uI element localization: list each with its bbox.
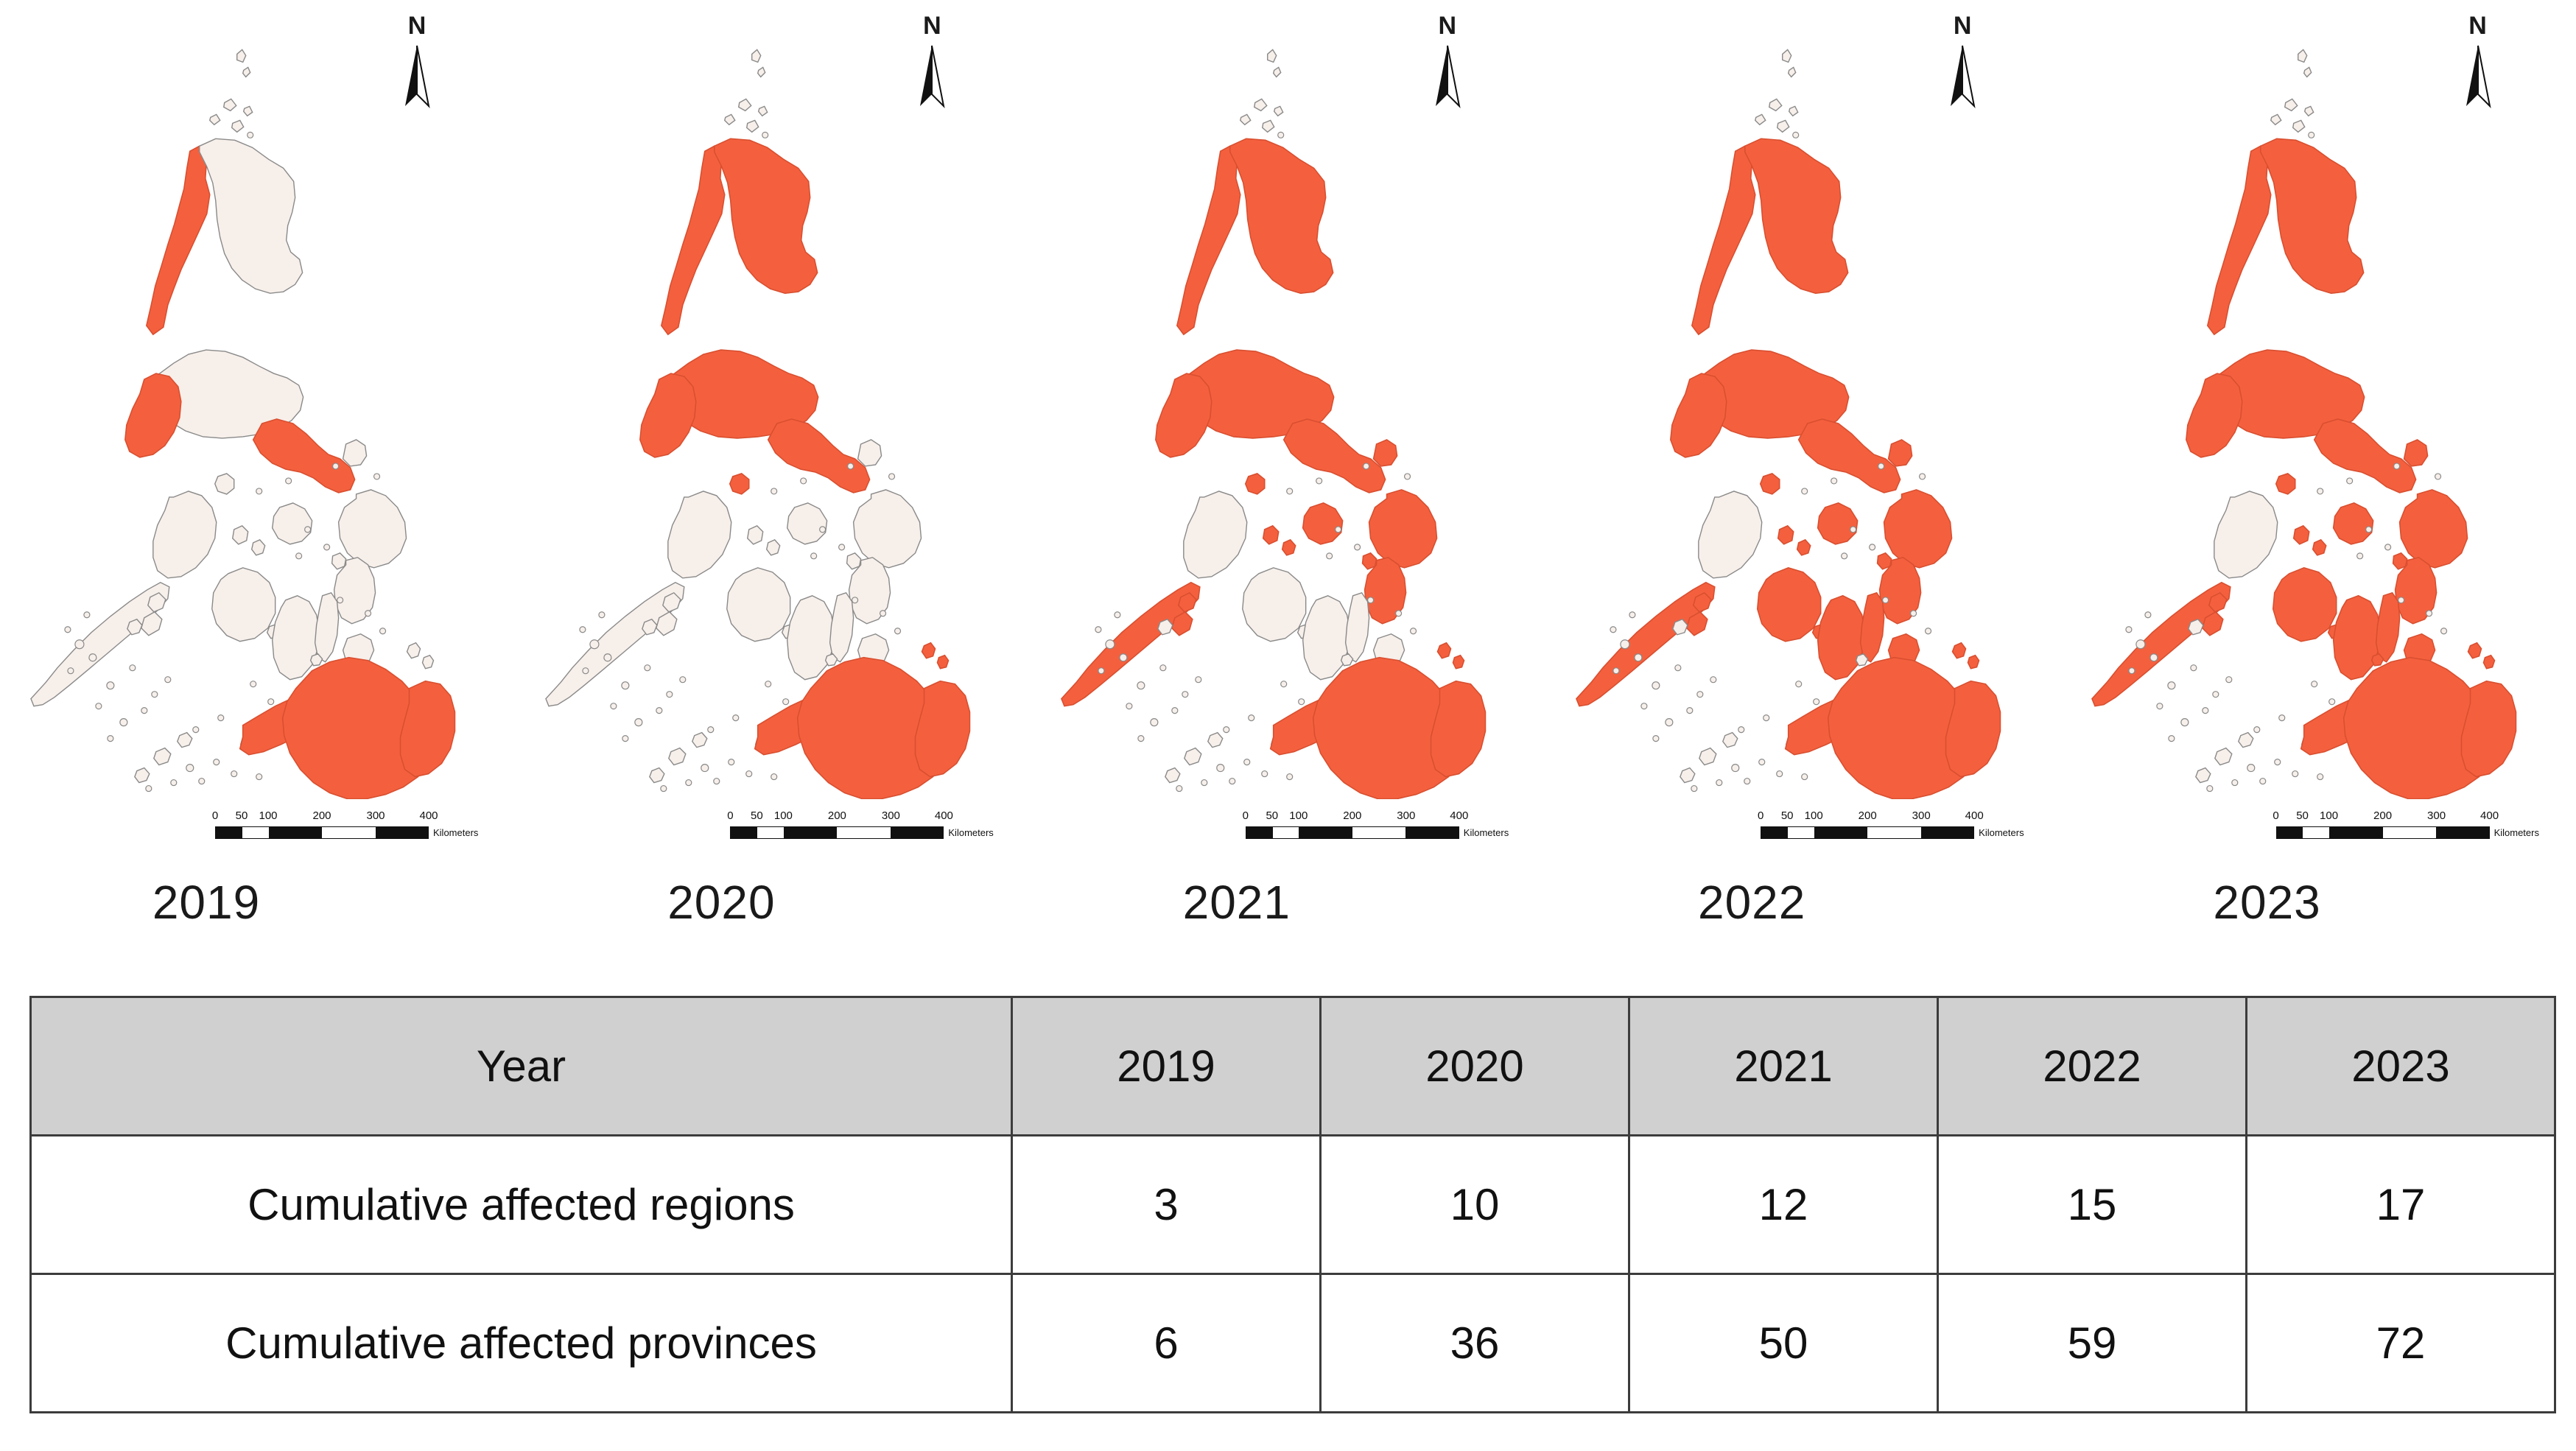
row-label-provinces: Cumulative affected provinces [31, 1274, 1012, 1413]
map-islet [1716, 780, 1722, 786]
map-islet [2278, 715, 2284, 721]
map-region-calayan [2292, 120, 2304, 132]
scalebar-tick: 300 [2427, 810, 2446, 822]
scalebar-tick: 50 [1266, 810, 1278, 822]
map-region-sulu-c [2238, 733, 2253, 748]
map-islet [96, 703, 102, 709]
map-islet [2317, 774, 2323, 780]
map-region-romblon-b [767, 540, 780, 555]
map-region-cebu [1345, 593, 1369, 662]
map-islet [2259, 779, 2265, 784]
map-region-babuyan-c [1755, 114, 1766, 124]
map-region-luzon-north-east [1745, 138, 1848, 293]
map-islet [2125, 627, 2131, 633]
scalebar-tick: 300 [366, 810, 385, 822]
map-islet [2156, 703, 2162, 709]
map-region-luzon-bicol [768, 419, 870, 493]
map-islet [1732, 765, 1739, 772]
map-region-ilocos-strip [1177, 146, 1240, 334]
map-islet [714, 779, 720, 784]
map-region-romblon-a [233, 526, 248, 544]
map-region-panay [1758, 568, 1821, 642]
map-islet [2206, 786, 2212, 792]
map-islet [1744, 779, 1750, 784]
map-region-negros [787, 596, 835, 680]
map-region-batanes-b [2303, 67, 2311, 77]
map-region-negros [273, 596, 320, 680]
map-islet [171, 780, 177, 786]
map-year-label: 2020 [515, 875, 927, 930]
scalebar-tick: 50 [2296, 810, 2309, 822]
map-panel-2023: N 050100200300400 Kilometers 2023 [2061, 0, 2576, 980]
map-islet [108, 736, 113, 742]
map-region-sulu-a [1185, 748, 1201, 765]
map-islet [1870, 544, 1875, 550]
map-region-ilocos-strip [147, 146, 210, 334]
map-region-batanes-b [1273, 67, 1280, 77]
scalebar-tick: 400 [419, 810, 438, 822]
map-islet [1652, 682, 1660, 689]
map-islet [1738, 727, 1744, 733]
scalebar-unit-label: Kilometers [1979, 828, 2024, 838]
map-islet [2308, 132, 2314, 138]
map-islet [337, 597, 343, 603]
map-region-masbate [1818, 503, 1858, 544]
map-panel-2020: N 050100200300400 Kilometers 2020 [515, 0, 1030, 980]
scalebar-graphic [2276, 826, 2490, 839]
map-islet [2135, 640, 2144, 649]
map-region-siargao [423, 656, 434, 669]
map-region-cebu [2376, 593, 2399, 662]
map-islet [1137, 682, 1145, 689]
table-header-year-2023: 2023 [2247, 997, 2555, 1136]
map-islet [686, 780, 692, 786]
map-islet [2356, 553, 2362, 559]
scalebar-ticks: 050100200300400 [2276, 810, 2519, 826]
map-region-babuyan-a [224, 99, 236, 110]
map-islet [599, 612, 605, 618]
map-islet [771, 488, 777, 494]
map-islet [1160, 665, 1166, 671]
map-islet [583, 668, 589, 674]
map-region-babuyan-a [2284, 99, 2297, 110]
map-islet [811, 553, 817, 559]
map-region-batanes-a [1268, 49, 1277, 62]
map-islet [84, 612, 90, 618]
statistics-table: Year 2019 2020 2021 2022 2023 Cumulative… [29, 996, 2556, 1413]
map-region-biliran [2393, 553, 2407, 569]
table-header-row: Year 2019 2020 2021 2022 2023 [31, 997, 2555, 1136]
map-year-label: 2022 [1545, 875, 1958, 930]
map-region-ilocos-strip [2207, 146, 2270, 334]
map-region-masbate [787, 503, 827, 544]
map-region-mindoro [668, 491, 731, 578]
map-year-label: 2023 [2061, 875, 2474, 930]
map-islet [746, 771, 752, 777]
cell-regions-2020: 10 [1321, 1136, 1629, 1274]
map-islet [801, 478, 807, 484]
map-islet [186, 765, 194, 772]
map-region-babuyan-b [1274, 106, 1282, 116]
map-region-batanes-b [1789, 67, 1796, 77]
map-region-luzon-bicol [1799, 419, 1901, 493]
map-region-sulu-b [1680, 768, 1695, 783]
map-islet [268, 699, 274, 705]
map-islet [1176, 786, 1182, 792]
map-islet [1911, 611, 1917, 616]
map-islet [820, 527, 826, 533]
scalebar-ticks: 050100200300400 [1761, 810, 2004, 826]
map-islet [2274, 759, 2280, 765]
map-region-negros [2333, 596, 2380, 680]
map-region-calayan [1263, 120, 1274, 132]
map-region-babuyan-c [1240, 114, 1251, 124]
map-islet [1326, 553, 1332, 559]
map-region-cebu [830, 593, 854, 662]
map-islet [1244, 759, 1250, 765]
map-islet [2180, 719, 2188, 726]
scalebar-tick: 300 [1397, 810, 1415, 822]
map-islet [218, 715, 224, 721]
map-region-marinduque [730, 474, 749, 494]
map-region-sulu-b [135, 768, 150, 783]
map-islet [729, 759, 734, 765]
table-header-label: Year [31, 997, 1012, 1136]
map-islet [1691, 786, 1697, 792]
map-region-luzon-zambales [640, 373, 696, 457]
map-region-mindoro [1699, 491, 1762, 578]
map-region-biliran [332, 553, 346, 569]
map-series-strip: N 050100200300400 Kilometers 2019 N 0501… [0, 0, 2576, 980]
map-region-cebu [315, 593, 339, 662]
map-region-marinduque [2275, 474, 2295, 494]
map-islet [2365, 527, 2371, 533]
map-panel-2021: N 050100200300400 Kilometers 2021 [1031, 0, 1545, 980]
map-islet [590, 640, 599, 649]
map-islet [611, 703, 617, 709]
table-header-year-2022: 2022 [1938, 997, 2247, 1136]
map-region-sulu-a [1699, 748, 1716, 765]
map-islet [248, 132, 253, 138]
map-region-batanes-a [752, 49, 761, 62]
map-islet [193, 727, 199, 733]
philippines-map [1545, 41, 2060, 799]
map-islet [1286, 774, 1292, 780]
map-islet [1249, 715, 1254, 721]
map-islet [1878, 463, 1884, 469]
map-islet [2247, 765, 2254, 772]
map-islet [765, 681, 771, 687]
map-region-batanes-b [758, 67, 765, 77]
map-region-palawan [546, 583, 684, 706]
map-islet [1106, 640, 1115, 649]
map-islet [1182, 692, 1188, 698]
map-islet [635, 719, 642, 726]
map-islet [1316, 478, 1322, 484]
scalebar-tick: 0 [1243, 810, 1249, 822]
scalebar-tick: 100 [774, 810, 793, 822]
table-header-year-2019: 2019 [1012, 997, 1321, 1136]
cell-provinces-2019: 6 [1012, 1274, 1321, 1413]
map-islet [2384, 544, 2390, 550]
scalebar-graphic [1246, 826, 1459, 839]
map-panel-2022: N 050100200300400 Kilometers 2022 [1545, 0, 2060, 980]
map-islet [839, 544, 845, 550]
map-islet [889, 474, 895, 479]
map-islet [380, 628, 386, 634]
map-islet [2346, 478, 2352, 484]
map-region-calayan [1777, 120, 1789, 132]
map-islet [1763, 715, 1769, 721]
map-region-babuyan-a [739, 99, 751, 110]
map-region-romblon-a [2293, 526, 2309, 544]
map-region-luzon-zambales [125, 373, 181, 457]
map-islet [2398, 597, 2404, 603]
map-region-luzon-north-east [715, 138, 818, 293]
map-islet [1224, 727, 1229, 733]
map-region-sulu-c [692, 733, 707, 748]
scalebar-tick: 100 [2320, 810, 2338, 822]
map-islet [1802, 774, 1808, 780]
map-islet [1286, 488, 1292, 494]
map-islet [1298, 699, 1304, 705]
map-islet [667, 692, 673, 698]
map-region-luzon-north-east [2260, 138, 2363, 293]
map-islet [1172, 708, 1178, 714]
map-region-siargao [938, 656, 949, 669]
map-region-samar [1369, 490, 1436, 568]
map-region-luzon-bicol [253, 419, 355, 493]
map-islet [120, 719, 127, 726]
map-region-romblon-a [748, 526, 763, 544]
scalebar-tick: 0 [1758, 810, 1763, 822]
scale-bar: 050100200300400 Kilometers [215, 810, 458, 849]
map-islet [1335, 527, 1341, 533]
map-region-catanduanes [1889, 440, 1912, 466]
map-islet [107, 682, 114, 689]
map-islet [231, 771, 237, 777]
cell-provinces-2020: 36 [1321, 1274, 1629, 1413]
map-region-luzon-north-east [200, 138, 303, 293]
map-islet [1710, 677, 1716, 683]
map-region-babuyan-b [1789, 106, 1798, 116]
map-region-dinagat [407, 643, 421, 658]
map-islet [1229, 779, 1235, 784]
map-region-batanes-a [2298, 49, 2306, 62]
scalebar-tick: 50 [751, 810, 763, 822]
map-islet [1621, 640, 1629, 649]
map-islet [656, 708, 662, 714]
scalebar-tick: 400 [1450, 810, 1468, 822]
cell-regions-2019: 3 [1012, 1136, 1321, 1274]
map-islet [1354, 544, 1360, 550]
map-islet [333, 463, 339, 469]
map-islet [1842, 553, 1847, 559]
cell-regions-2022: 15 [1938, 1136, 2247, 1274]
map-region-biliran [1878, 553, 1892, 569]
map-islet [2167, 682, 2175, 689]
map-islet [708, 727, 714, 733]
scalebar-tick: 200 [828, 810, 846, 822]
map-region-dinagat [1953, 643, 1966, 658]
map-islet [1126, 703, 1132, 709]
map-islet [848, 463, 854, 469]
north-arrow-label: N [2456, 13, 2500, 38]
map-region-masbate [2333, 503, 2373, 544]
map-islet [580, 627, 586, 633]
map-islet [1793, 132, 1799, 138]
map-islet [1610, 627, 1616, 633]
map-islet [1277, 132, 1283, 138]
map-region-luzon-north-east [1230, 138, 1333, 293]
map-region-marinduque [215, 474, 234, 494]
map-islet [1777, 771, 1783, 777]
map-islet [65, 627, 71, 633]
map-region-luzon-zambales [2186, 373, 2242, 457]
map-islet [1363, 463, 1369, 469]
scalebar-tick: 50 [1781, 810, 1794, 822]
scale-bar: 050100200300400 Kilometers [1246, 810, 1489, 849]
map-islet [2435, 474, 2440, 479]
scalebar-tick: 200 [312, 810, 331, 822]
map-region-marinduque [1761, 474, 1780, 494]
map-islet [2168, 736, 2174, 742]
cell-provinces-2023: 72 [2247, 1274, 2555, 1413]
map-islet [1120, 654, 1127, 661]
map-islet [783, 699, 789, 705]
scalebar-tick: 100 [1289, 810, 1308, 822]
map-region-marinduque [1246, 474, 1265, 494]
map-islet [733, 715, 739, 721]
north-arrow-label: N [1940, 13, 1984, 38]
cell-provinces-2022: 59 [1938, 1274, 2247, 1413]
map-year-label: 2021 [1031, 875, 1443, 930]
map-region-luzon-bicol [2314, 419, 2415, 493]
map-region-sulu-a [669, 748, 686, 765]
map-islet [75, 640, 84, 649]
scalebar-tick: 200 [1859, 810, 1877, 822]
map-region-luzon-zambales [1156, 373, 1212, 457]
map-islet [880, 611, 886, 616]
map-islet [1151, 719, 1158, 726]
scalebar-tick: 0 [727, 810, 733, 822]
map-region-babuyan-c [210, 114, 220, 124]
map-islet [1675, 665, 1681, 671]
map-islet [604, 654, 611, 661]
map-islet [1395, 611, 1401, 616]
scalebar-tick: 300 [882, 810, 900, 822]
map-region-panay [727, 568, 790, 642]
cell-regions-2023: 17 [2247, 1136, 2555, 1274]
map-islet [771, 774, 777, 780]
map-region-sulu-a [154, 748, 171, 765]
map-islet [1115, 612, 1120, 618]
scalebar-graphic [1761, 826, 1974, 839]
map-islet [1666, 719, 1673, 726]
scalebar-tick: 200 [1343, 810, 1361, 822]
map-region-romblon-b [1282, 540, 1295, 555]
map-islet [1653, 736, 1659, 742]
map-islet [1883, 597, 1889, 603]
map-region-mindoro [1184, 491, 1247, 578]
map-islet [1850, 527, 1856, 533]
map-region-babuyan-b [759, 106, 768, 116]
map-islet [1367, 597, 1373, 603]
map-islet [2190, 665, 2196, 671]
map-islet [199, 779, 205, 784]
map-region-masbate [273, 503, 312, 544]
scalebar-tick: 200 [2373, 810, 2392, 822]
table-row: Cumulative affected provinces 6 36 50 59… [31, 1274, 2555, 1413]
philippines-map [0, 41, 515, 799]
map-islet [852, 597, 858, 603]
scale-bar: 050100200300400 Kilometers [2276, 810, 2519, 849]
map-region-cebu [1861, 593, 1884, 662]
map-islet [141, 708, 147, 714]
map-islet [296, 553, 302, 559]
map-islet [1831, 478, 1837, 484]
map-islet [2292, 771, 2298, 777]
map-islet [1217, 765, 1224, 772]
map-region-siargao [2483, 656, 2494, 669]
map-islet [2128, 668, 2134, 674]
map-region-babuyan-c [2270, 114, 2281, 124]
map-region-siargao [1453, 656, 1464, 669]
map-islet [895, 628, 901, 634]
map-region-romblon-b [252, 540, 265, 555]
map-region-catanduanes [2404, 440, 2427, 466]
map-islet [1098, 668, 1104, 674]
map-region-romblon-a [1778, 526, 1794, 544]
map-islet [2225, 677, 2231, 683]
map-islet [130, 665, 136, 671]
scalebar-ticks: 050100200300400 [1246, 810, 1489, 826]
map-islet [1697, 692, 1703, 698]
map-region-romblon-b [2312, 540, 2326, 555]
map-region-batanes-a [1783, 49, 1791, 62]
map-islet [1196, 677, 1201, 683]
scalebar-tick: 400 [2480, 810, 2499, 822]
map-islet [1635, 654, 1642, 661]
map-islet [2393, 463, 2399, 469]
scalebar-graphic [730, 826, 944, 839]
map-islet [680, 677, 686, 683]
cell-provinces-2021: 50 [1629, 1274, 1938, 1413]
map-islet [1920, 474, 1926, 479]
map-islet [1410, 628, 1416, 634]
map-region-negros [1302, 596, 1350, 680]
map-islet [2440, 628, 2446, 634]
cell-regions-2021: 12 [1629, 1136, 1938, 1274]
map-region-calayan [232, 120, 244, 132]
map-islet [1095, 627, 1101, 633]
map-islet [622, 736, 628, 742]
north-arrow-label: N [1425, 13, 1470, 38]
map-region-panay [1243, 568, 1306, 642]
map-islet [250, 681, 256, 687]
map-region-babuyan-a [1254, 99, 1267, 110]
map-region-luzon-zambales [1671, 373, 1727, 457]
map-islet [165, 677, 171, 683]
map-region-ilocos-strip [661, 146, 725, 334]
map-region-dinagat [2468, 643, 2481, 658]
table-header-year-2021: 2021 [1629, 997, 1938, 1136]
map-region-mindoro [153, 491, 217, 578]
scalebar-tick: 300 [1912, 810, 1931, 822]
map-islet [2202, 708, 2208, 714]
scalebar-tick: 50 [236, 810, 248, 822]
map-islet [2311, 681, 2317, 687]
